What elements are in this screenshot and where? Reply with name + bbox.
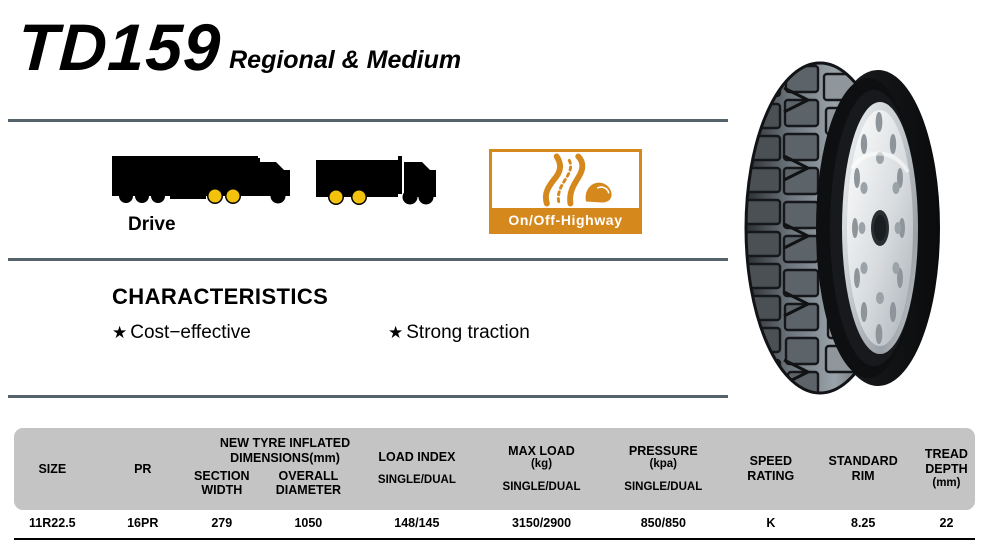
table-header-row: SIZE PR SECTION WIDTH OVERALL DIAMETER L…	[0, 428, 985, 510]
column-header-section-width: SECTION WIDTH	[181, 428, 263, 510]
characteristics-title: CHARACTERISTICS	[112, 284, 328, 310]
product-title-block: TD159 Regional & Medium	[18, 14, 461, 80]
column-header-size: SIZE	[0, 428, 105, 510]
cell-pressure: 850/850	[603, 510, 723, 536]
divider-top	[8, 119, 728, 122]
column-header-standard-rim: STANDARD RIM	[818, 428, 907, 510]
column-header-max-load: MAX LOAD (kg) SINGLE/DUAL	[480, 428, 604, 510]
feature-item: ★Strong traction	[388, 322, 530, 344]
table-row: 11R22.5 16PR 279 1050 148/145 3150/2900 …	[0, 510, 985, 536]
rigid-truck-icon	[312, 146, 440, 208]
cell-speed-rating: K	[723, 510, 818, 536]
feature-label: Cost−effective	[130, 322, 251, 343]
cell-max-load: 3150/2900	[480, 510, 604, 536]
divider-middle	[8, 258, 728, 261]
column-header-speed-rating: SPEED RATING	[723, 428, 818, 510]
truck-tire-photo	[728, 48, 978, 408]
winding-road-icon	[492, 152, 639, 208]
column-header-pr: PR	[105, 428, 181, 510]
cell-section-width: 279	[181, 510, 263, 536]
cell-overall-diameter: 1050	[263, 510, 354, 536]
semi-trailer-truck-icon	[108, 146, 294, 208]
divider-bottom	[8, 395, 728, 398]
feature-label: Strong traction	[406, 322, 530, 343]
column-header-overall-diameter: OVERALL DIAMETER	[263, 428, 354, 510]
column-header-tread-depth: TREAD DEPTH (mm)	[908, 428, 985, 510]
badge-caption: On/Off-Highway	[492, 208, 639, 231]
on-off-highway-badge: On/Off-Highway	[489, 149, 642, 234]
page-title: TD159	[16, 14, 223, 80]
cell-tread-depth: 22	[908, 510, 985, 536]
cell-pr: 16PR	[105, 510, 181, 536]
axle-position-label: Drive	[128, 214, 176, 236]
feature-item: ★Cost−effective	[112, 322, 251, 344]
product-subtitle: Regional & Medium	[229, 46, 461, 75]
column-header-load-index: LOAD INDEX SINGLE/DUAL	[354, 428, 480, 510]
cell-standard-rim: 8.25	[818, 510, 907, 536]
star-icon: ★	[112, 323, 127, 342]
cell-size: 11R22.5	[0, 510, 105, 536]
column-header-pressure: PRESSURE (kpa) SINGLE/DUAL	[603, 428, 723, 510]
cell-load-index: 148/145	[354, 510, 480, 536]
table-bottom-rule	[14, 538, 975, 540]
star-icon: ★	[388, 323, 403, 342]
